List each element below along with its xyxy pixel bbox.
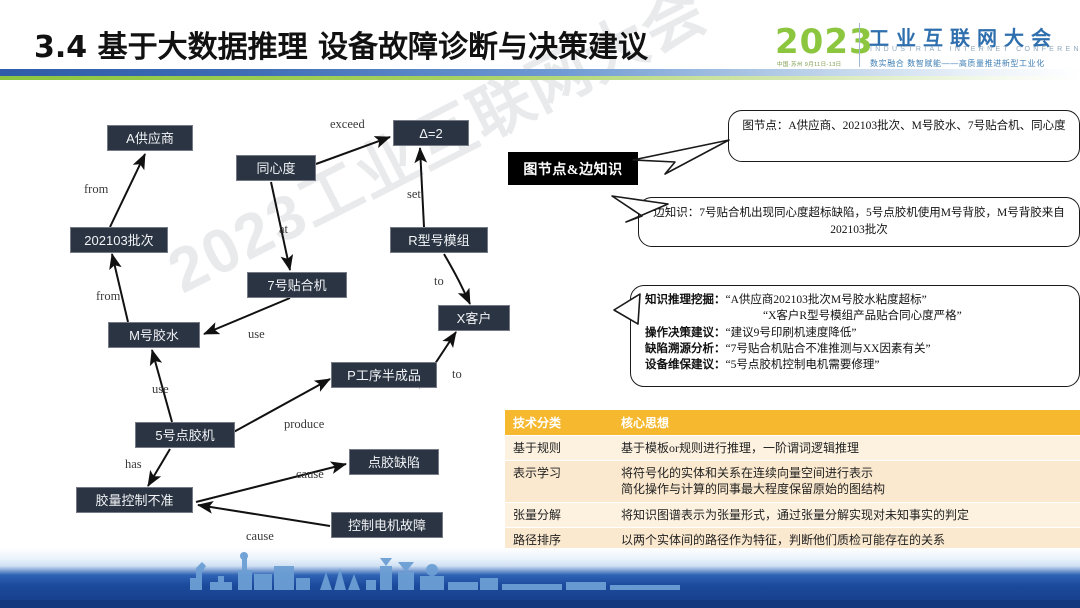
- reasoning-key: 设备维保建议：: [645, 357, 726, 373]
- table-cell-idea: 将符号化的实体和关系在连续向量空间进行表示 简化操作与计算的同事最大程度保留原始…: [613, 461, 1080, 502]
- graph-node-supplier[interactable]: A供应商: [107, 125, 193, 151]
- section-label-graph-knowledge: 图节点&边知识: [508, 152, 638, 185]
- callout-edge-knowledge-text: 边知识：7号贴合机出现同心度超标缺陷，5号点胶机使用M号背胶，M号背胶来自202…: [639, 198, 1079, 245]
- slide-canvas: 2023工业互联网大会 3.4 基于大数据推理 设备故障诊断与决策建议 2023…: [0, 0, 1080, 608]
- graph-edge-label-dispenser-glueamount: has: [125, 457, 142, 472]
- callout-edge-knowledge: 边知识：7号贴合机出现同心度超标缺陷，5号点胶机使用M号背胶，M号背胶来自202…: [638, 197, 1080, 247]
- graph-node-module[interactable]: R型号模组: [390, 227, 488, 253]
- callout-graph-nodes-tail: [625, 138, 735, 178]
- graph-edge-label-glue-batch: from: [96, 289, 120, 304]
- industrial-skyline-icon: [180, 548, 740, 590]
- table-head: 技术分类 核心思想: [505, 410, 1080, 436]
- graph-edges: [0, 82, 505, 552]
- reasoning-value: “7号贴合机贴合不准推测与XX因素有关”: [726, 341, 931, 357]
- table-cell-category: 表示学习: [505, 461, 613, 502]
- logo-english-name: INDUSTRIAL INTERNET CONFERENCE: [870, 46, 1080, 53]
- graph-edge-label-dispenser-glue: use: [152, 382, 169, 397]
- graph-edge-label-laminator-glue: use: [248, 327, 265, 342]
- table-cell-category: 张量分解: [505, 502, 613, 527]
- callout-edge-knowledge-tail: [606, 192, 676, 232]
- table-body: 基于规则 基于模板or规则进行推理，一阶谓词逻辑推理 表示学习 将符号化的实体和…: [505, 436, 1080, 553]
- technique-table: 技术分类 核心思想 基于规则 基于模板or规则进行推理，一阶谓词逻辑推理 表示学…: [505, 410, 1080, 553]
- logo-date: 中国·苏州 9月11日-13日: [777, 60, 842, 68]
- table-cell-idea: 基于模板or规则进行推理，一阶谓词逻辑推理: [613, 436, 1080, 461]
- callout-reasoning-tail: [608, 290, 648, 336]
- table-row: 基于规则 基于模板or规则进行推理，一阶谓词逻辑推理: [505, 436, 1080, 461]
- graph-node-customer[interactable]: X客户: [438, 305, 510, 331]
- graph-edge-label-dispenser-semi: produce: [284, 417, 324, 432]
- footer-bottom-band: [0, 600, 1080, 608]
- graph-node-batch[interactable]: 202103批次: [70, 227, 168, 253]
- graph-edge-label-module-customer: to: [434, 274, 444, 289]
- graph-edge-label-concentric-delta: exceed: [330, 117, 365, 132]
- graph-node-delta[interactable]: Δ=2: [393, 120, 469, 146]
- callout-graph-nodes-text: 图节点：A供应商、202103批次、M号胶水、7号贴合机、同心度: [729, 111, 1079, 142]
- logo-slogan: 数实融合 数智赋能——高质量推进新型工业化: [870, 58, 1045, 69]
- graph-edge-label-batch-supplier: from: [84, 182, 108, 197]
- table-cell-category: 基于规则: [505, 436, 613, 461]
- graph-node-laminator[interactable]: 7号贴合机: [247, 272, 347, 298]
- callout-reasoning: 知识推理挖掘： “A供应商202103批次M号胶水粘度超标” “X客户R型号模组…: [630, 285, 1080, 387]
- table-cell-idea: 将知识图谱表示为张量形式，通过张量分解实现对未知事实的判定: [613, 502, 1080, 527]
- table-row: 表示学习 将符号化的实体和关系在连续向量空间进行表示 简化操作与计算的同事最大程…: [505, 461, 1080, 502]
- reasoning-value: “A供应商202103批次M号胶水粘度超标”: [726, 292, 927, 308]
- reasoning-key: 知识推理挖掘：: [645, 292, 726, 308]
- reasoning-key: 缺陷溯源分析：: [645, 341, 726, 357]
- graph-node-glue[interactable]: M号胶水: [108, 322, 200, 348]
- graph-edge-label-concentric-laminator: at: [279, 222, 288, 237]
- graph-edge-label-motor-glueamount: cause: [246, 529, 274, 544]
- table-header-cell-0: 技术分类: [505, 410, 613, 436]
- knowledge-graph: A供应商202103批次M号胶水5号点胶机胶量控制不准同心度7号贴合机Δ=2R型…: [0, 82, 505, 552]
- reasoning-row-4: 设备维保建议： “5号点胶机控制电机需要修理”: [645, 357, 1079, 373]
- page-title: 3.4 基于大数据推理 设备故障诊断与决策建议: [34, 22, 648, 66]
- reasoning-value: “建议9号印刷机速度降低”: [726, 325, 857, 341]
- table-header-row: 技术分类 核心思想: [505, 410, 1080, 436]
- graph-node-semi[interactable]: P工序半成品: [331, 362, 437, 388]
- reasoning-row-0: 知识推理挖掘： “A供应商202103批次M号胶水粘度超标”: [645, 292, 1079, 308]
- reasoning-row-2: 操作决策建议： “建议9号印刷机速度降低”: [645, 325, 1079, 341]
- graph-node-motor[interactable]: 控制电机故障: [331, 512, 443, 538]
- reasoning-row-1: “X客户R型号模组产品贴合同心度严格”: [645, 308, 1079, 324]
- reasoning-value: “5号点胶机控制电机需要修理”: [726, 357, 880, 373]
- graph-node-dispenser[interactable]: 5号点胶机: [135, 422, 235, 448]
- slide-footer: [0, 548, 1080, 608]
- table-row: 张量分解 将知识图谱表示为张量形式，通过张量分解实现对未知事实的判定: [505, 502, 1080, 527]
- graph-node-glueamount[interactable]: 胶量控制不准: [76, 487, 193, 513]
- callout-graph-nodes: 图节点：A供应商、202103批次、M号胶水、7号贴合机、同心度: [728, 110, 1080, 162]
- logo-separator: [859, 23, 860, 67]
- table-header-cell-1: 核心思想: [613, 410, 1080, 436]
- reasoning-key: 操作决策建议：: [645, 325, 726, 341]
- graph-edge-label-glueamount-defect: cause: [296, 467, 324, 482]
- graph-edge-label-module-delta: set: [407, 187, 421, 202]
- graph-node-defect[interactable]: 点胶缺陷: [349, 449, 439, 475]
- graph-node-concentric[interactable]: 同心度: [236, 155, 316, 181]
- reasoning-value: “X客户R型号模组产品贴合同心度严格”: [763, 308, 962, 324]
- graph-edge-label-semi-customer: to: [452, 367, 462, 382]
- reasoning-row-3: 缺陷溯源分析： “7号贴合机贴合不准推测与XX因素有关”: [645, 341, 1079, 357]
- conference-logo: 2023 中国·苏州 9月11日-13日 工业互联网大会 INDUSTRIAL …: [775, 20, 1075, 78]
